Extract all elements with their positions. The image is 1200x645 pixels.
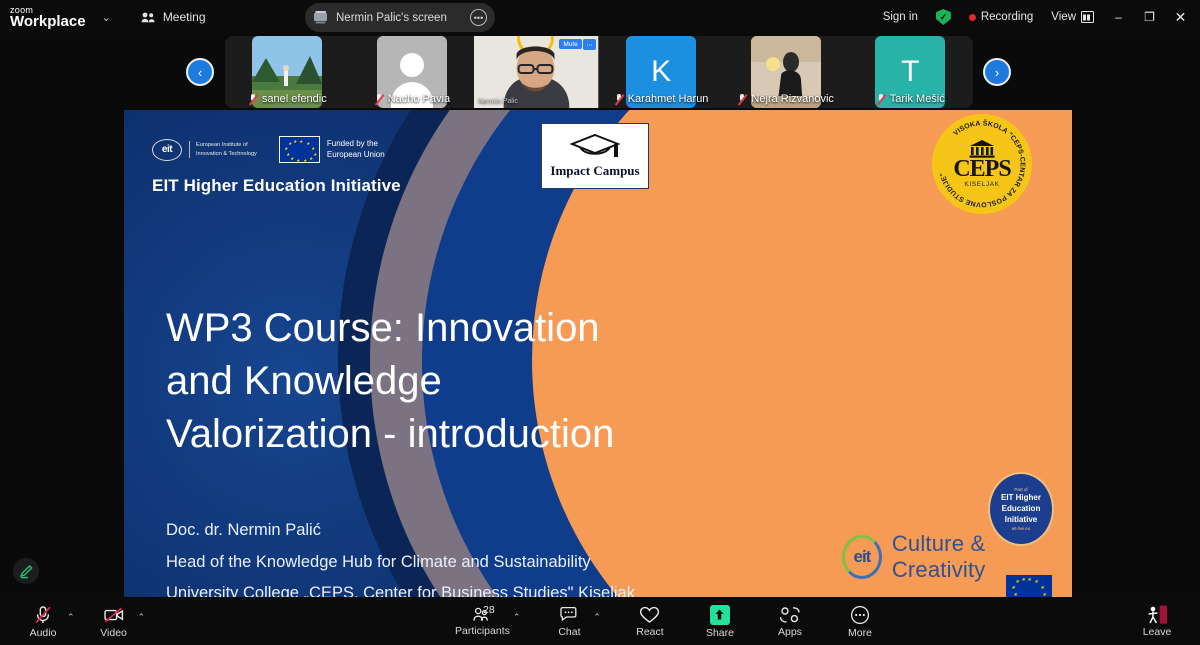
maximize-restore-button[interactable]: ❐ (1134, 0, 1165, 34)
toolbar-center-group: 28 Participants ⌃ Chat ⌃ React (455, 598, 881, 645)
people-icon (141, 12, 156, 23)
presenter-affiliation: University College „CEPS, Center for Bus… (166, 578, 786, 597)
participants-count: 28 (483, 604, 495, 616)
sign-in-label: Sign in (883, 11, 918, 23)
apps-icon (779, 606, 801, 624)
presenter-name: Doc. dr. Nermin Palić (166, 515, 786, 547)
participant-tile[interactable]: Nacho Pavia (350, 36, 475, 108)
participant-name: Nejra Rizvanovic (751, 93, 834, 105)
view-button[interactable]: View (1042, 11, 1103, 23)
eu-flag-icon: ★★ ★★ ★★ ★★ ★★ ★★ (279, 136, 320, 163)
eu-line2: European Union (327, 150, 385, 159)
audio-control-group: Audio ⌃ (22, 598, 75, 645)
ceps-logo: VISOKA ŠKOLA "CEPS-CENTAR ZA POSLOVNE ST… (932, 114, 1032, 214)
react-button[interactable]: React (629, 598, 671, 645)
presenter-role: Head of the Knowledge Hub for Climate an… (166, 547, 786, 579)
slide-presenter-block: Doc. dr. Nermin Palić Head of the Knowle… (166, 515, 786, 597)
microphone-muted-icon (33, 605, 53, 625)
participant-tile[interactable]: K Karahmet Harun (599, 36, 724, 108)
participant-tile-active-speaker[interactable]: Mute ⋯ Nermin Palic (474, 36, 599, 108)
participants-options-caret[interactable]: ⌃ (513, 612, 521, 623)
participants-label: Participants (455, 625, 510, 637)
eu-funding-logo: ★★ ★★ ★★ ★★ ★★ ★★ Funded by the European… (279, 136, 385, 163)
filmstrip-prev-button[interactable]: ‹ (186, 58, 214, 86)
apps-label: Apps (778, 626, 802, 638)
shared-screen-pill[interactable]: Nermin Palic's screen ••• (305, 3, 495, 32)
graduation-cap-icon (570, 133, 620, 161)
meeting-tab[interactable]: Meeting (141, 10, 206, 24)
shared-screen-title: Nermin Palic's screen (336, 12, 463, 24)
eit-logo-subtitle: European Institute of Innovation & Techn… (189, 141, 257, 157)
zoom-meeting-window: zoom Workplace ⌄ Meeting Nermin Palic's … (0, 0, 1200, 645)
mute-participant-button[interactable]: Mute (559, 39, 581, 49)
eu-flag-icon-small: ★★ ★★ ★★ ★★ ★★ ★★ (1006, 575, 1052, 597)
share-label: Share (706, 627, 734, 639)
ceps-ring-text: VISOKA ŠKOLA "CEPS-CENTAR ZA POSLOVNE ST… (935, 117, 1029, 211)
toolbar-left-group: Audio ⌃ Video ⌃ (22, 598, 145, 645)
participant-tile[interactable]: Nejra Rizvanovic (723, 36, 848, 108)
muted-mic-icon (876, 94, 886, 105)
more-button[interactable]: More (839, 598, 881, 645)
participant-filmstrip: sanel efendic Nacho Pavia (225, 36, 973, 108)
minimize-button[interactable]: – (1103, 0, 1134, 34)
recording-dot-icon (969, 14, 976, 21)
leave-door-icon (1147, 605, 1168, 624)
meeting-tab-label: Meeting (163, 10, 206, 24)
apps-button[interactable]: Apps (769, 598, 811, 645)
share-button[interactable]: Share (699, 598, 741, 645)
slide-title-line3: Valorization - introduction (166, 408, 726, 461)
security-shield-button[interactable]: ✓ (927, 9, 960, 25)
toolbar-right-group: Leave (1136, 598, 1178, 645)
annotate-pencil-button[interactable] (13, 558, 39, 584)
video-control-group: Video ⌃ (93, 598, 146, 645)
pencil-annotate-icon (19, 564, 34, 579)
slide-header-logos: eit European Institute of Innovation & T… (152, 136, 385, 163)
eu-line1: Funded by the (327, 139, 378, 148)
shared-screen-content[interactable]: eit European Institute of Innovation & T… (124, 110, 1072, 597)
video-options-caret[interactable]: ⌃ (138, 612, 146, 623)
more-label: More (848, 627, 872, 639)
more-options-icon[interactable]: ••• (470, 9, 487, 26)
eit-culture-creativity-block: eit Culture & Creativity ★★ ★★ ★★ ★★ ★★ … (824, 487, 1064, 597)
title-bar: zoom Workplace ⌄ Meeting Nermin Palic's … (0, 0, 1200, 34)
impact-campus-logo: Impact Campus (541, 123, 649, 189)
participant-name: Karahmet Harun (628, 93, 709, 105)
screen-share-icon (313, 10, 329, 25)
participants-control-group: 28 Participants ⌃ (455, 598, 520, 645)
chat-bubble-icon (559, 606, 579, 624)
security-shield-icon: ✓ (936, 9, 951, 25)
participant-name: Nacho Pavia (388, 93, 450, 105)
audio-button[interactable]: Audio (22, 598, 64, 645)
audio-label: Audio (30, 627, 57, 639)
muted-mic-icon (374, 94, 384, 105)
eit-sub-line1: European Institute of (196, 142, 248, 148)
window-controls-group: Sign in ✓ Recording View – ❐ ✕ (874, 0, 1200, 34)
eu-funding-text: Funded by the European Union (327, 139, 385, 161)
chat-label: Chat (558, 626, 580, 638)
svg-text:VISOKA ŠKOLA "CEPS-CENTAR ZA P: VISOKA ŠKOLA "CEPS-CENTAR ZA POSLOVNE ST… (939, 118, 1025, 207)
view-label: View (1051, 11, 1076, 23)
video-button[interactable]: Video (93, 598, 135, 645)
tile-more-options-button[interactable]: ⋯ (583, 39, 596, 50)
eit-initiative-title: EIT Higher Education Initiative (152, 176, 401, 196)
slide-title-line1: WP3 Course: Innovation (166, 302, 726, 355)
slide-title-line2: and Knowledge (166, 355, 726, 408)
participant-name: Nermin Palic (478, 98, 518, 105)
sign-in-button[interactable]: Sign in (874, 11, 927, 23)
eit-logo-mark: eit (152, 139, 182, 161)
participant-tile[interactable]: sanel efendic (225, 36, 350, 108)
heart-icon (639, 606, 660, 624)
muted-mic-icon (248, 94, 258, 105)
participants-button[interactable]: 28 Participants (455, 598, 510, 645)
layout-grid-icon (1081, 11, 1094, 23)
meeting-toolbar: Audio ⌃ Video ⌃ (0, 598, 1200, 645)
eit-cc-mark: eit (842, 535, 882, 579)
zoom-workplace-logo: zoom Workplace (10, 6, 86, 29)
chevron-down-icon[interactable]: ⌄ (102, 11, 111, 24)
leave-label: Leave (1143, 626, 1172, 638)
more-dots-icon (850, 605, 870, 625)
muted-mic-icon (737, 94, 747, 105)
recording-label: Recording (981, 11, 1033, 23)
slide-title: WP3 Course: Innovation and Knowledge Val… (166, 302, 726, 460)
eit-logo: eit European Institute of Innovation & T… (152, 139, 257, 161)
muted-mic-icon (614, 94, 624, 105)
participant-name: sanel efendic (262, 93, 327, 105)
share-screen-up-arrow-icon (710, 605, 730, 625)
react-label: React (636, 626, 663, 638)
brand-workplace: Workplace (10, 14, 86, 29)
participant-name: Tarik Mešić (890, 93, 945, 105)
recording-indicator[interactable]: Recording (960, 11, 1042, 23)
chat-control-group: Chat ⌃ (548, 598, 601, 645)
participant-tile[interactable]: T Tarik Mešić (848, 36, 973, 108)
leave-button[interactable]: Leave (1136, 598, 1178, 645)
audio-options-caret[interactable]: ⌃ (67, 612, 75, 623)
chat-options-caret[interactable]: ⌃ (593, 612, 601, 623)
filmstrip-next-button[interactable]: › (983, 58, 1011, 86)
chat-button[interactable]: Chat (548, 598, 590, 645)
close-button[interactable]: ✕ (1165, 0, 1196, 34)
video-label: Video (100, 627, 127, 639)
impact-campus-label: Impact Campus (550, 163, 639, 179)
camera-muted-icon (103, 605, 125, 625)
eit-sub-line2: Innovation & Technology (196, 151, 257, 157)
